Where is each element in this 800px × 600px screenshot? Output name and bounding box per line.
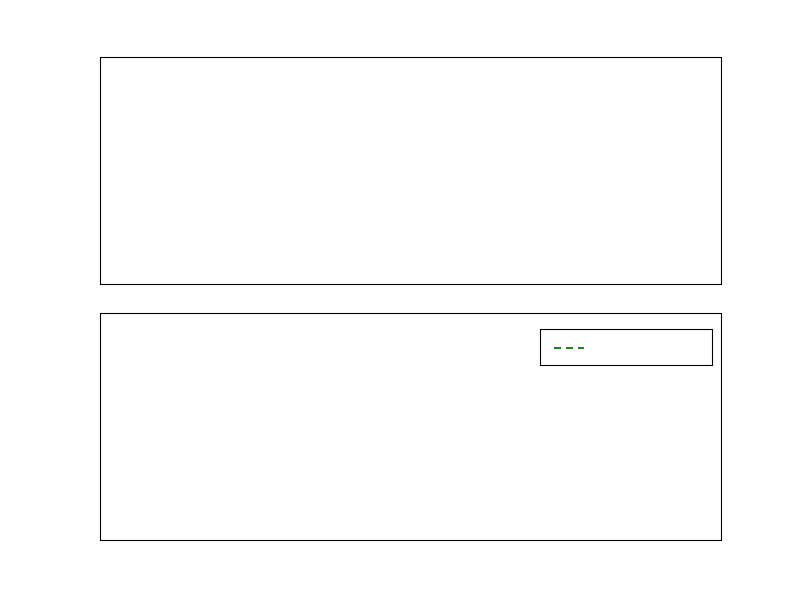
figure-background bbox=[0, 0, 800, 600]
figure-canvas bbox=[0, 0, 800, 600]
legend[interactable] bbox=[541, 330, 713, 366]
matplotlib-figure bbox=[0, 0, 800, 600]
